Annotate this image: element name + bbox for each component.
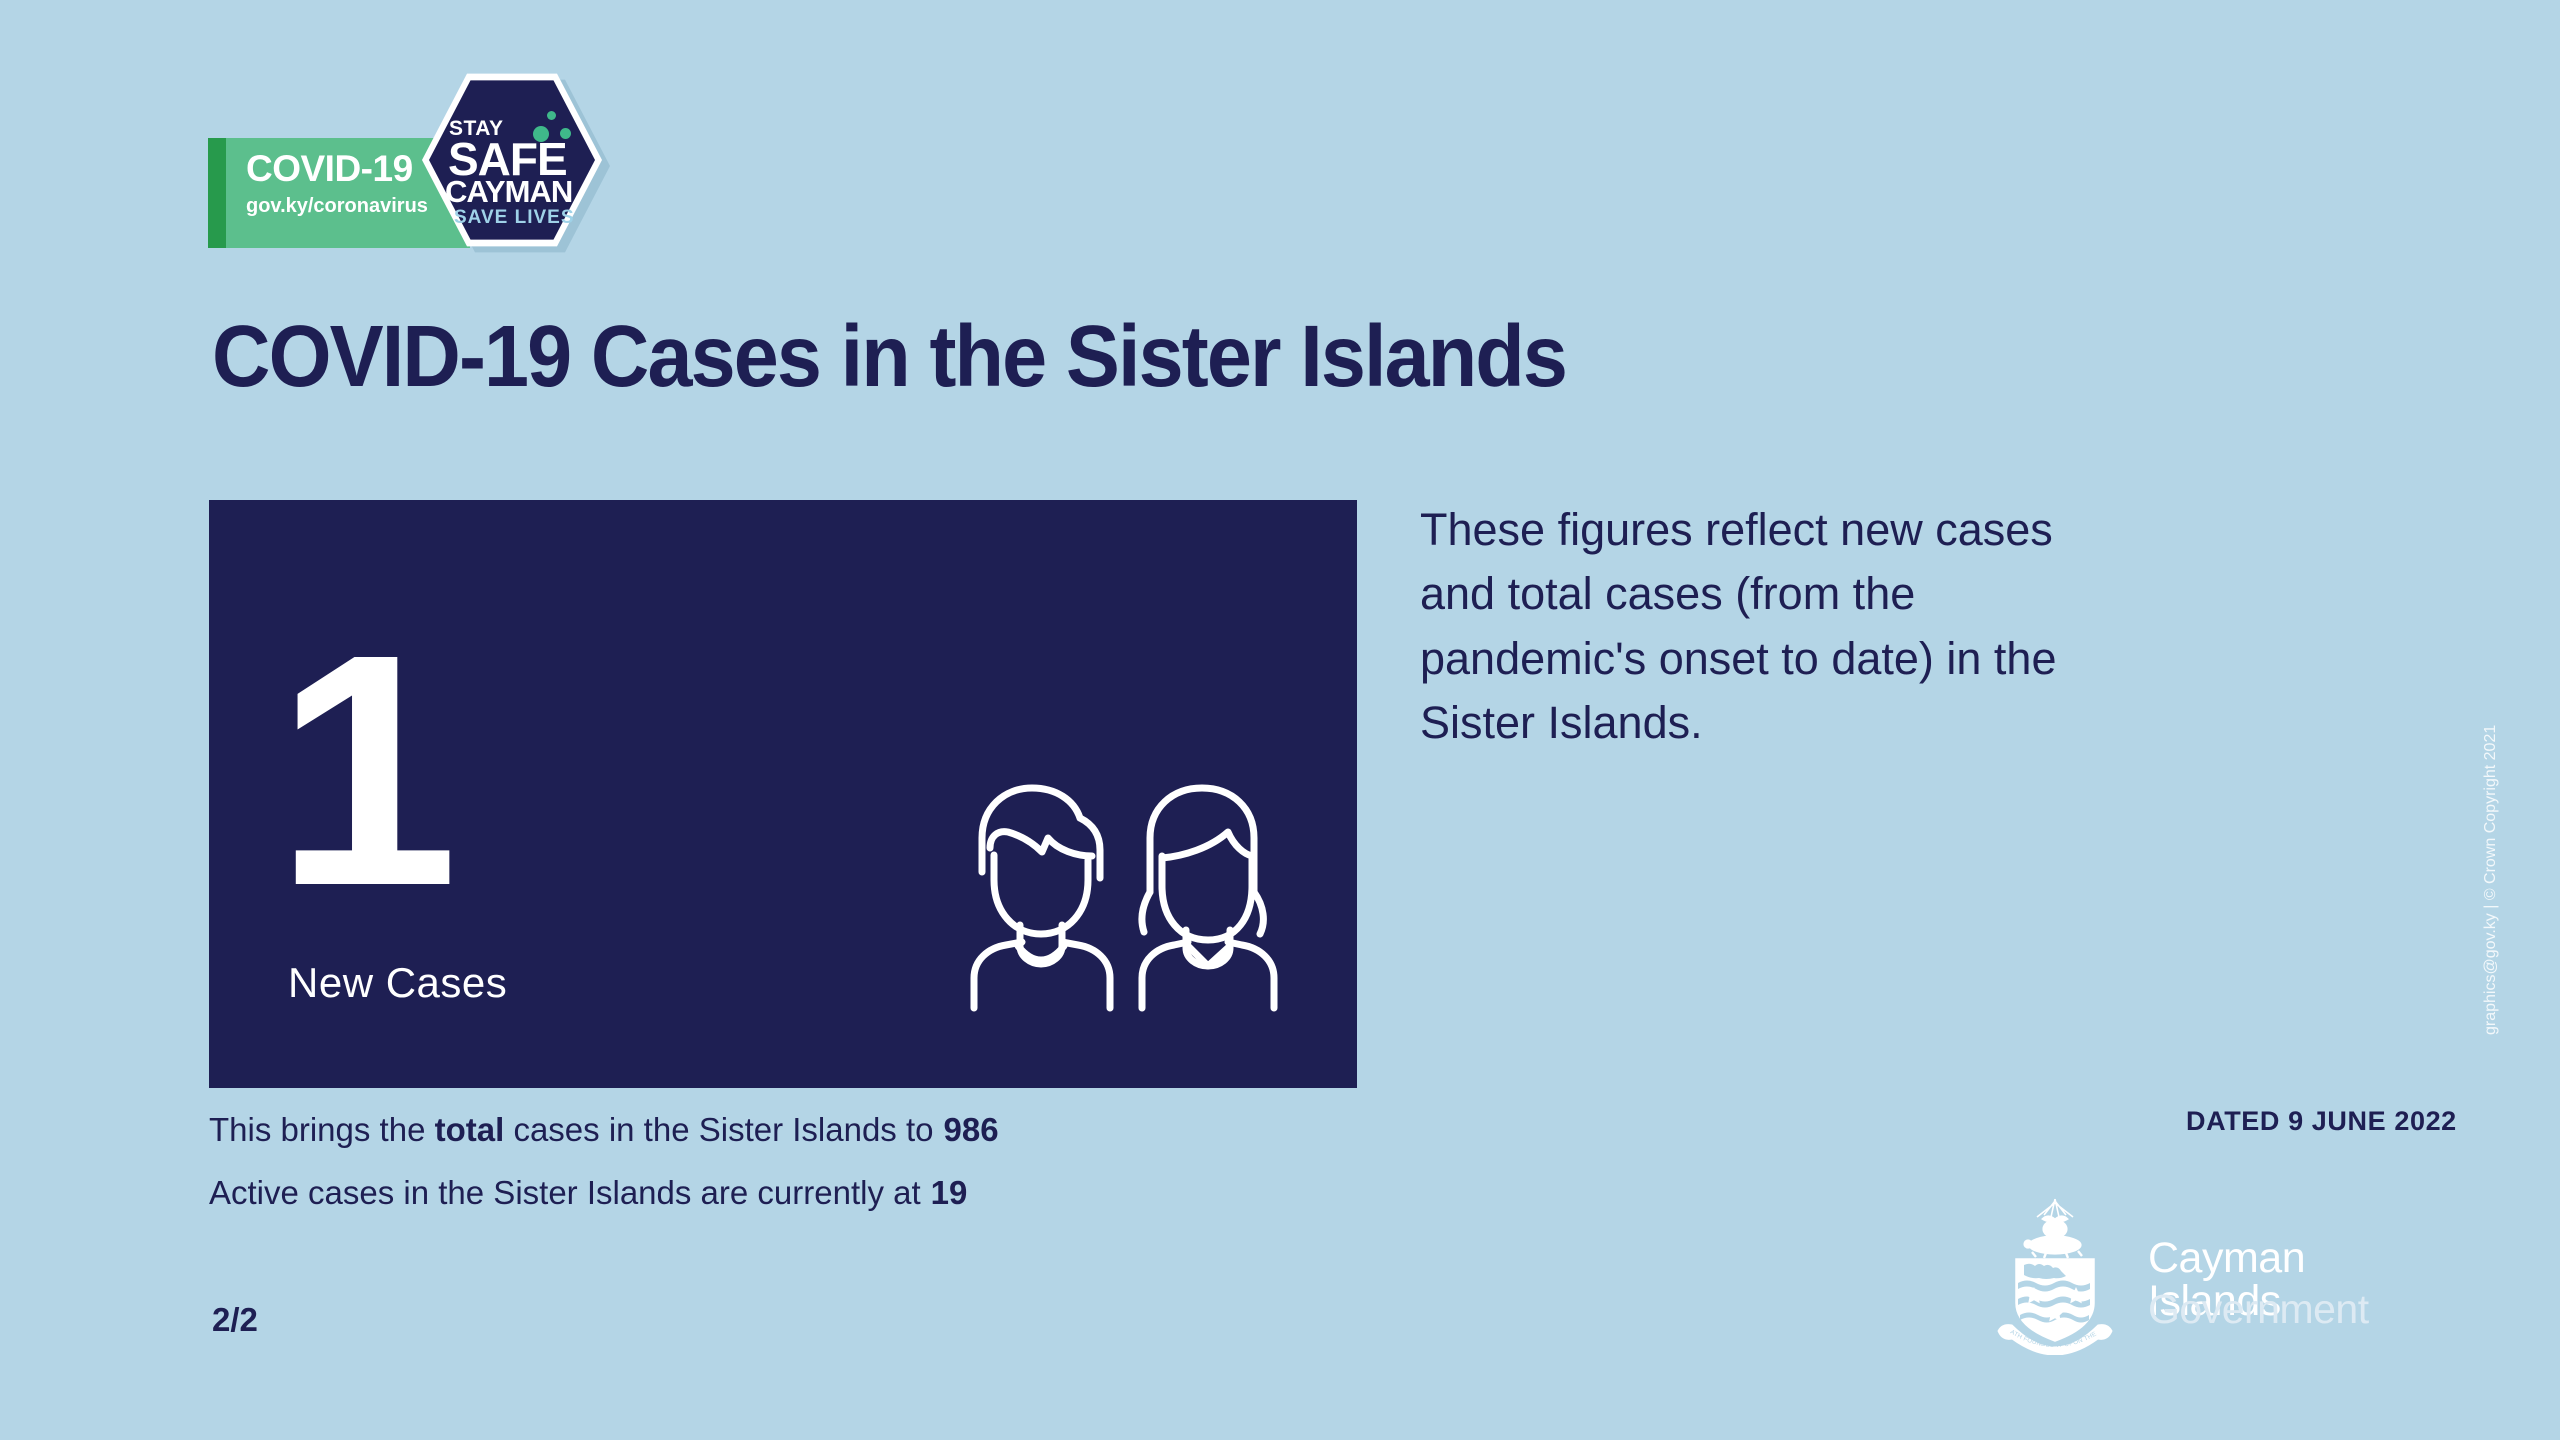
active-cases-line: Active cases in the Sister Islands are c… [209, 1176, 967, 1209]
covid-banner-title: COVID-19 [246, 150, 413, 187]
page-title: COVID-19 Cases in the Sister Islands [212, 313, 1566, 400]
new-cases-label: New Cases [288, 962, 507, 1004]
dated-label: DATED 9 JUNE 2022 [2186, 1108, 2457, 1135]
active-line-text: Active cases in the Sister Islands are c… [209, 1174, 921, 1211]
new-cases-number: 1 [275, 605, 451, 935]
badge-line-cayman: CAYMAN [445, 176, 572, 207]
active-cases-value: 19 [931, 1174, 968, 1211]
total-line1-pre: This brings the [209, 1111, 435, 1148]
cayman-coat-of-arms-crest: HE HATH FOUNDED IT UPON THE SEAS [1990, 1195, 2120, 1355]
copyright-notice: graphics@gov.ky | © Crown Copyright 2021 [2483, 725, 2499, 1035]
two-people-icon [952, 760, 1312, 1020]
total-line1-bold: total [435, 1111, 505, 1148]
page-number: 2/2 [212, 1303, 258, 1336]
covid-banner-dark-edge [208, 138, 226, 248]
total-line1-post: cases in the Sister Islands to [504, 1111, 933, 1148]
description-text: These figures reflect new cases and tota… [1420, 498, 2100, 755]
stay-safe-cayman-hex-badge: STAY SAFE CAYMAN SAVE LIVES [420, 68, 610, 258]
covid-stay-safe-logo-lockup: COVID-19 gov.ky/coronavirus STAY SAFE CA… [208, 68, 628, 248]
infographic-page: COVID-19 gov.ky/coronavirus STAY SAFE CA… [0, 0, 2560, 1440]
covid-banner-url: gov.ky/coronavirus [246, 196, 428, 216]
total-cases-line: This brings the total cases in the Siste… [209, 1113, 999, 1146]
badge-line-save-lives: SAVE LIVES [454, 208, 575, 227]
virus-dot-icon [547, 111, 556, 120]
cig-logo-subtitle: Government [2148, 1289, 2369, 1330]
cayman-islands-government-logo: HE HATH FOUNDED IT UPON THE SEAS Cayman … [1990, 1195, 2430, 1365]
total-cases-value: 986 [944, 1111, 999, 1148]
